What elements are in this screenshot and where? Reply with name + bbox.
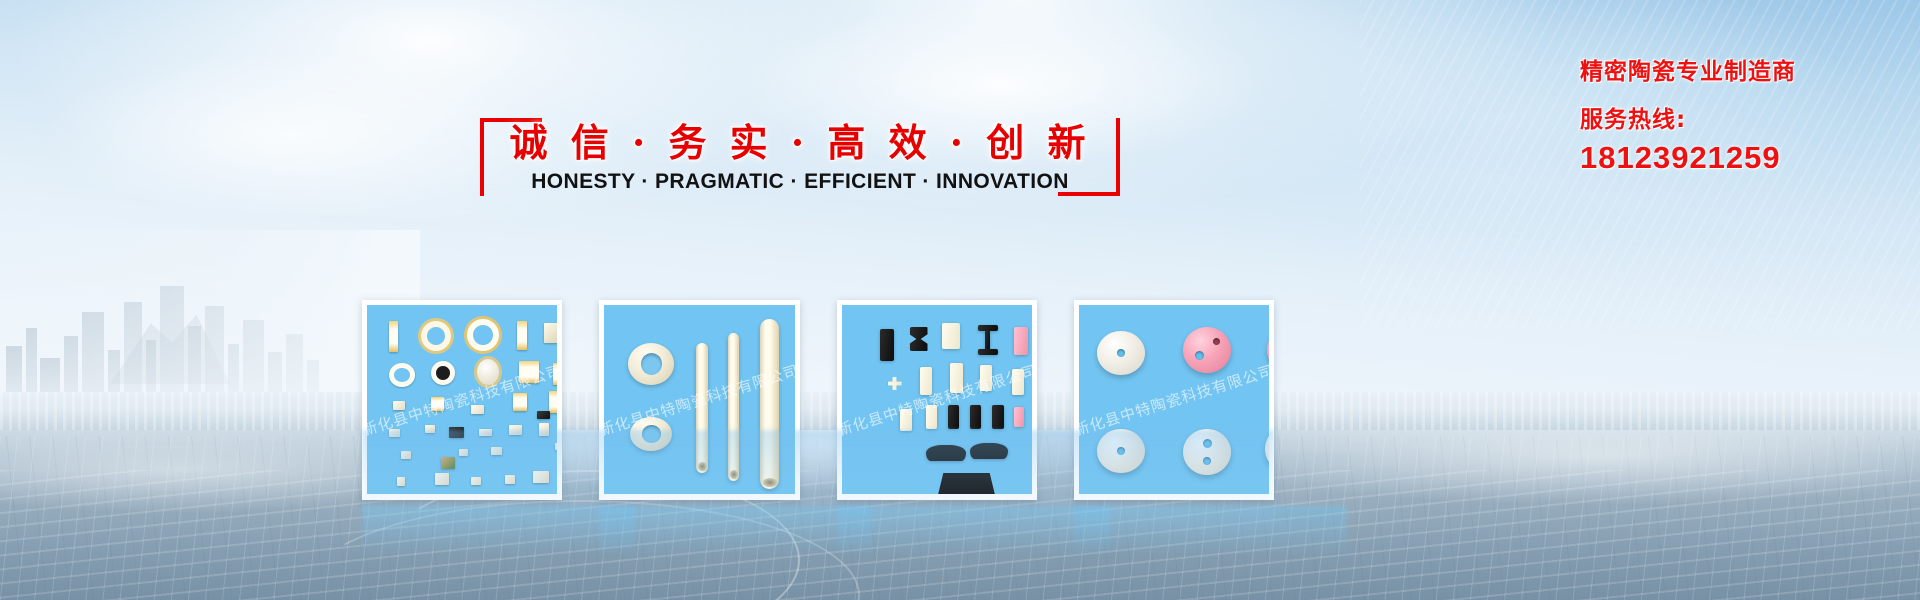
- ceramic-disc: [1183, 327, 1231, 373]
- ceramic-disc: [1097, 331, 1145, 375]
- company-tagline: 精密陶瓷专业制造商: [1580, 52, 1880, 86]
- hotline-number[interactable]: 18123921259: [1580, 140, 1880, 176]
- hero-banner: 诚 信 · 务 实 · 高 效 · 创 新 HONESTY · PRAGMATI…: [0, 0, 1920, 600]
- hotline-label: 服务热线:: [1580, 100, 1880, 134]
- ceramic-ring-large: [628, 343, 674, 385]
- panel-strip-reflection: [362, 430, 1274, 550]
- slogan-chinese: 诚 信 · 务 实 · 高 效 · 创 新: [480, 112, 1120, 167]
- slogan-block: 诚 信 · 务 实 · 高 效 · 创 新 HONESTY · PRAGMATI…: [480, 108, 1120, 218]
- slogan-english: HONESTY · PRAGMATIC · EFFICIENT · INNOVA…: [480, 170, 1120, 194]
- ceramic-disc: [1267, 327, 1269, 373]
- atmospheric-haze: [0, 230, 420, 410]
- contact-block: 精密陶瓷专业制造商 服务热线: 18123921259: [1580, 52, 1880, 176]
